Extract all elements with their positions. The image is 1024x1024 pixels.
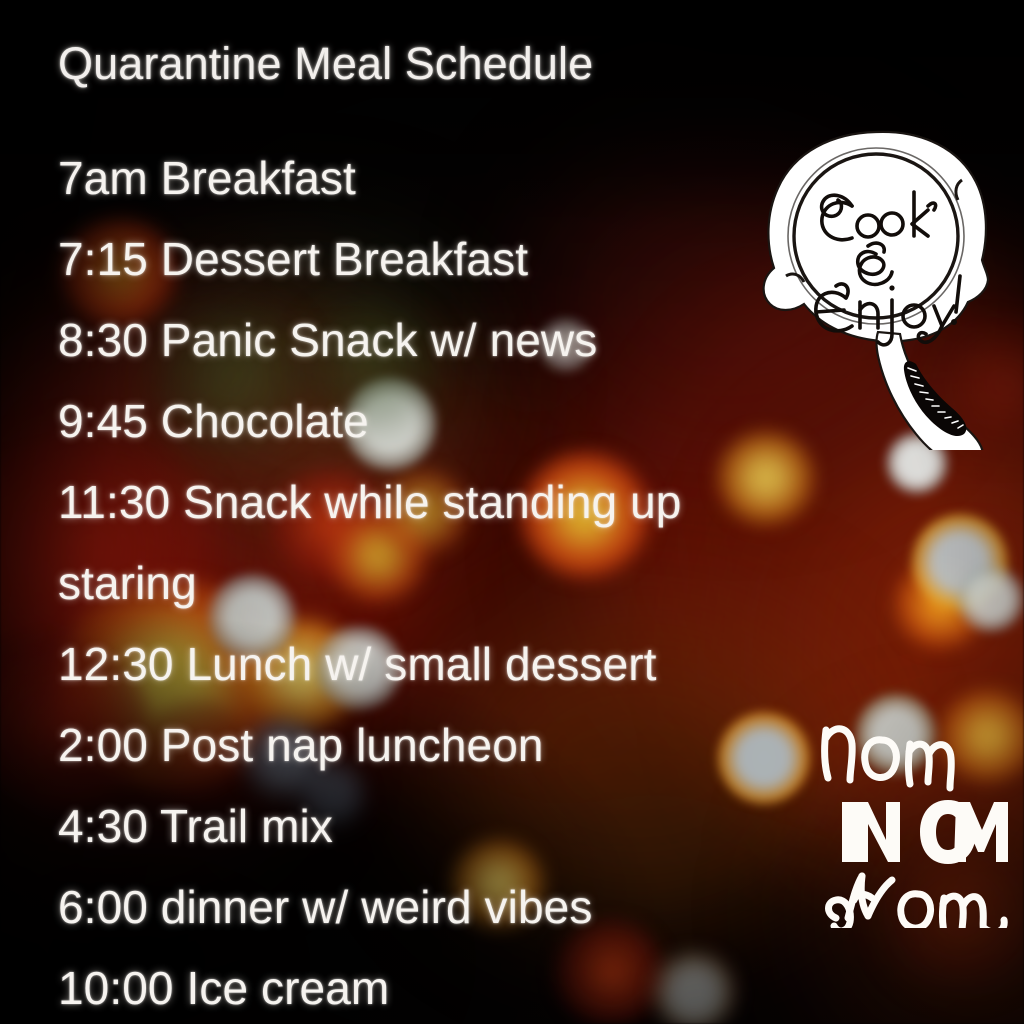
meme-image: Quarantine Meal Schedule 7am Breakfast 7… [0,0,1024,1024]
nom-nom-nom-watermark [812,706,1018,928]
list-item: 11:30 Snack while standing up [58,462,988,543]
page-title: Quarantine Meal Schedule [58,38,593,90]
watermark-line-1 [825,729,952,788]
list-item: staring [58,543,988,624]
skillet-icon [748,128,1010,450]
list-item: 10:00 Ice cream [58,948,988,1024]
watermark-line-3 [829,876,1005,928]
watermark-line-2 [842,800,1008,864]
list-item: 12:30 Lunch w/ small dessert [58,624,988,705]
